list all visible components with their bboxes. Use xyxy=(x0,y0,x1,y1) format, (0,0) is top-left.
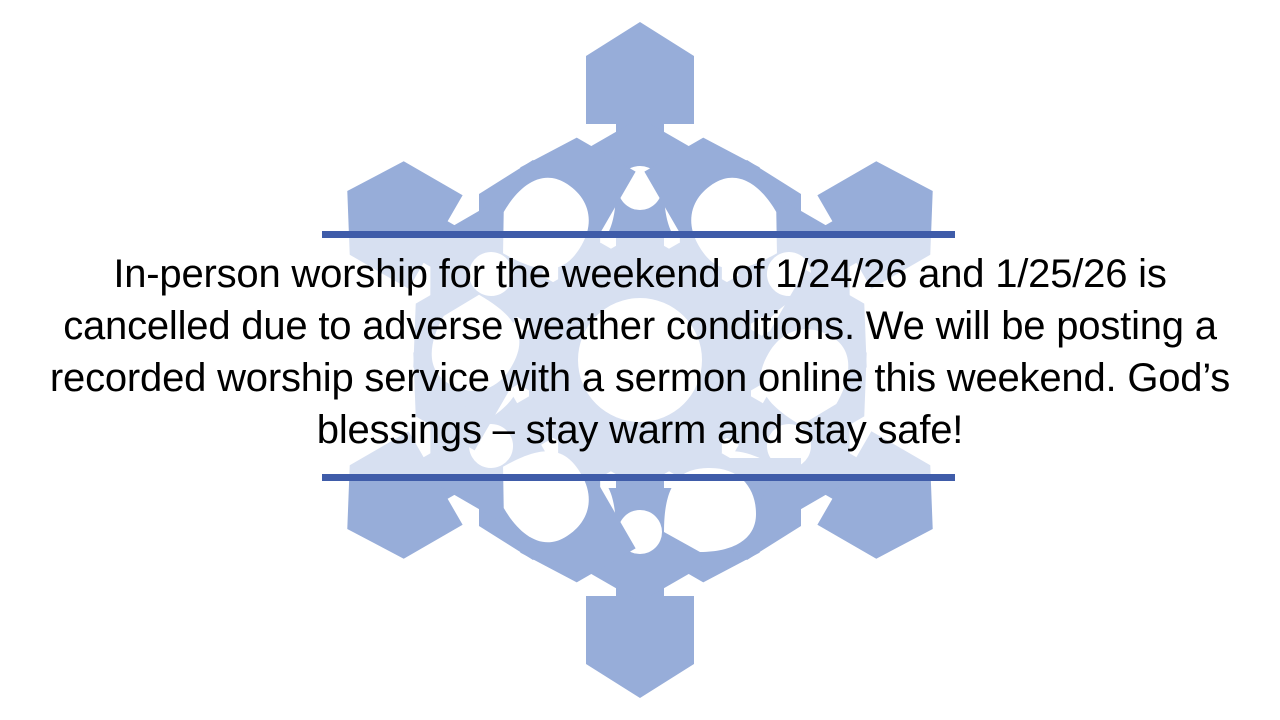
top-divider-rule xyxy=(322,231,955,238)
slide-canvas: In-person worship for the weekend of 1/2… xyxy=(0,0,1280,720)
announcement-text: In-person worship for the weekend of 1/2… xyxy=(30,248,1250,456)
bottom-divider-rule xyxy=(322,474,955,481)
